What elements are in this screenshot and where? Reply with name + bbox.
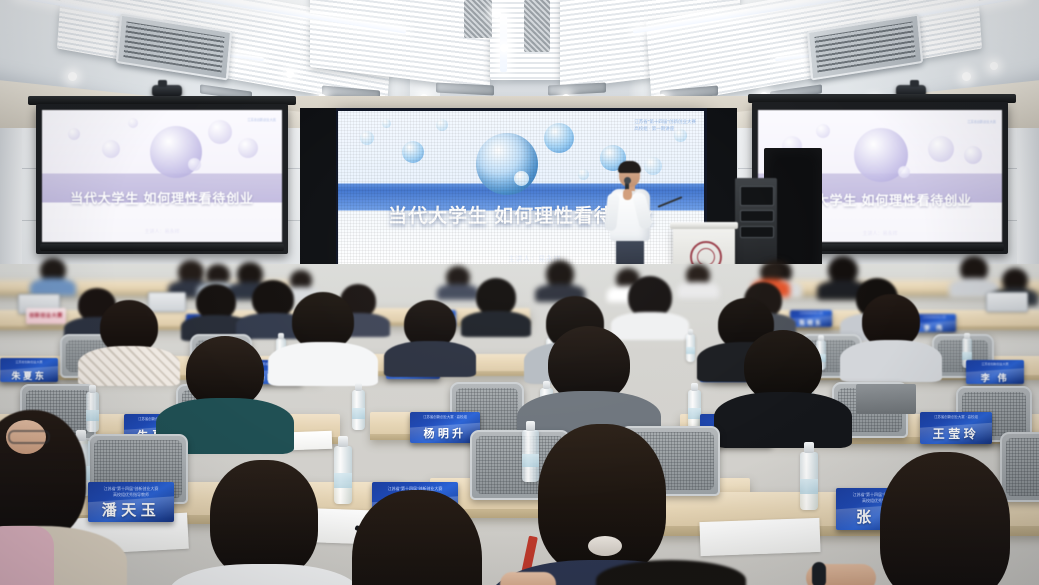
downlight-3 <box>286 70 294 78</box>
placard-name-front-1: 潘天玉 <box>88 499 174 520</box>
attendee-b6 <box>628 276 672 318</box>
notebook-e3 <box>699 518 820 556</box>
attendee-f4 <box>352 490 482 585</box>
laptop-d1[interactable] <box>856 384 916 414</box>
downlight-6 <box>492 9 501 18</box>
projector-left-mount <box>158 80 167 87</box>
left-screen-surface: 江苏省创新创业大赛 当代大学生 如何理性看待创业 主讲人：易永祥 <box>42 110 282 242</box>
attendee-d3 <box>744 330 822 402</box>
attendee-a12 <box>1002 268 1028 292</box>
downlight-13 <box>990 62 998 70</box>
presenter-hand <box>623 189 632 200</box>
av-monitor <box>740 186 774 206</box>
placard-org-front-1: 江苏省"第十四届"创新创业大赛高校组优秀指导教师 <box>88 486 174 497</box>
attendee-a11 <box>960 256 988 282</box>
attendee-a14-orange <box>760 262 782 282</box>
attendee-b3 <box>252 280 294 318</box>
led-bezel-left <box>300 108 336 272</box>
placard-name: 朱夏东 <box>0 369 58 382</box>
left-slide-corner-text: 江苏省创新创业大赛 <box>247 118 276 122</box>
attendee-a8 <box>686 264 710 286</box>
placard-name: 李 伟 <box>966 371 1024 384</box>
water-bottle-c5 <box>686 334 695 362</box>
placard-front-1: 江苏省"第十四届"创新创业大赛高校组优秀指导教师 潘天玉 <box>88 482 174 522</box>
attendee-c1 <box>100 300 158 354</box>
presenter <box>606 163 654 275</box>
led-slide-corner-text: 江苏省"第十四届"创新创业大赛高校组 · 第一期讲座 <box>634 119 696 133</box>
av-panel-2 <box>740 210 774 222</box>
placard-name: 陈晓东 <box>790 318 832 327</box>
attendee-f1-scarf <box>0 526 54 585</box>
downlight-7 <box>500 44 508 52</box>
attendee-f5 <box>880 452 1010 585</box>
left-slide-background <box>42 110 282 242</box>
attendee-c2 <box>292 292 354 350</box>
eyeglasses-icon <box>8 430 50 444</box>
right-slide-corner-text: 江苏省创新创业大赛 <box>967 120 996 124</box>
left-screen-weight-bar <box>40 244 284 251</box>
attendee-a2 <box>178 260 204 284</box>
placard-row-b-3: 江苏省创新创业大赛 陈晓东 <box>790 310 832 327</box>
downlight-12 <box>962 72 971 81</box>
attendee-f2 <box>210 460 318 585</box>
audience-area: 创新创业大赛 江苏省创新创业大赛 杨青森 江苏省创新创业大赛 王 霄 江苏省创新… <box>0 264 1039 585</box>
attendee-d2 <box>548 326 630 402</box>
water-bottle-e4 <box>800 452 818 510</box>
left-slide-subtitle: 主讲人：易永祥 <box>42 228 282 235</box>
left-screen-frame: 江苏省创新创业大赛 当代大学生 如何理性看待创业 主讲人：易永祥 <box>36 104 288 254</box>
presenter-hair <box>618 161 641 173</box>
placard-org: 江苏省创新创业大赛 <box>0 360 58 364</box>
attendee-a5 <box>446 266 470 288</box>
attendee-c6 <box>404 300 456 348</box>
placard-name: 王莹玲 <box>920 425 992 442</box>
ceiling-grille-right <box>524 0 550 52</box>
water-bottle-e3 <box>522 430 539 482</box>
water-bottle-e2 <box>334 446 352 504</box>
placard-org: 江苏省创新创业大赛 · 高校组 <box>410 415 480 420</box>
attendee-a3 <box>206 264 230 286</box>
lecture-hall-photo: 江苏省创新创业大赛 当代大学生 如何理性看待创业 主讲人：易永祥 江苏省创新创业… <box>0 0 1039 585</box>
water-bottle-d1 <box>86 392 99 432</box>
attendee-b2 <box>196 284 236 320</box>
ceiling-grille-left <box>464 0 492 38</box>
placard-red: 创新创业大赛 <box>26 308 66 324</box>
attendee-a10 <box>828 256 858 284</box>
av-panel-3 <box>740 226 774 238</box>
attendee-c5 <box>862 294 920 348</box>
light-strip-center <box>500 14 507 72</box>
attendee-hand-left <box>500 572 556 585</box>
ac-vent-2 <box>436 82 494 95</box>
placard-red-text: 创新创业大赛 <box>26 312 66 319</box>
placard-org: 江苏省创新创业大赛 · 高校组 <box>920 415 992 420</box>
attendee-a6 <box>546 260 574 288</box>
wrist-band <box>812 562 826 585</box>
attendee-b5 <box>476 278 516 316</box>
left-slide-title: 当代大学生 如何理性看待创业 <box>42 188 282 207</box>
placard-row-c-1: 江苏省创新创业大赛 朱夏东 <box>0 358 58 382</box>
desk-module-panel-3 <box>986 292 1028 312</box>
placard-row-d-4: 江苏省创新创业大赛 · 高校组 王莹玲 <box>920 412 992 444</box>
lectern-top <box>670 222 738 229</box>
downlight-1 <box>68 72 77 81</box>
attendee-d1 <box>186 336 264 408</box>
water-bottle-d2 <box>352 390 365 430</box>
attendee-a1 <box>40 258 66 282</box>
hair-tie-icon <box>588 536 622 556</box>
microphone-head-icon <box>624 177 631 184</box>
placard-org: 江苏省创新创业大赛 <box>790 312 832 316</box>
placard-row-c-5: 江苏省创新创业大赛 李 伟 <box>966 360 1024 384</box>
ac-vent-3 <box>548 82 606 95</box>
projector-right-mount <box>910 80 919 87</box>
placard-org: 江苏省创新创业大赛 <box>966 362 1024 366</box>
